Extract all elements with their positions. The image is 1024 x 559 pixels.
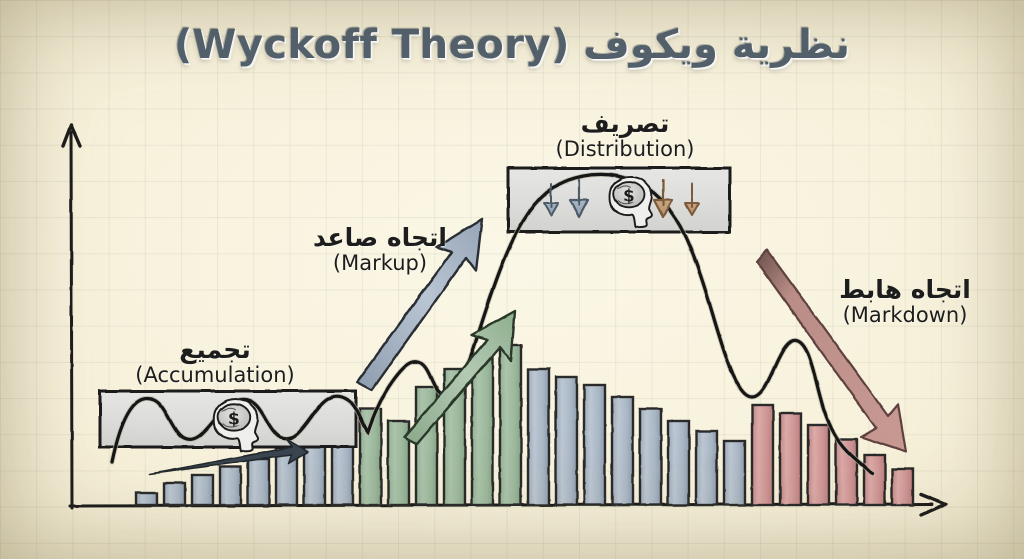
- bar: [220, 467, 241, 505]
- bar: [248, 459, 269, 505]
- bar: [528, 369, 549, 505]
- bar: [808, 425, 829, 505]
- wyckoff-diagram: $ $: [0, 0, 1024, 559]
- bar: [696, 431, 717, 505]
- bar: [724, 441, 745, 505]
- bar: [500, 345, 521, 505]
- bar: [640, 409, 661, 505]
- bar: [192, 475, 213, 505]
- bar: [472, 357, 493, 505]
- bar: [864, 455, 885, 505]
- chart-canvas: $ $: [0, 0, 1024, 559]
- bar: [584, 385, 605, 505]
- bar: [668, 421, 689, 505]
- y-axis: [71, 132, 72, 508]
- dollar-symbol: $: [623, 186, 635, 205]
- bar: [136, 493, 157, 505]
- bar-group-distribution: [528, 369, 745, 505]
- bar: [612, 397, 633, 505]
- dollar-symbol: $: [228, 409, 240, 429]
- bar: [892, 469, 913, 505]
- bar: [164, 483, 185, 505]
- bar: [556, 377, 577, 505]
- bar: [752, 405, 773, 505]
- bar: [780, 413, 801, 505]
